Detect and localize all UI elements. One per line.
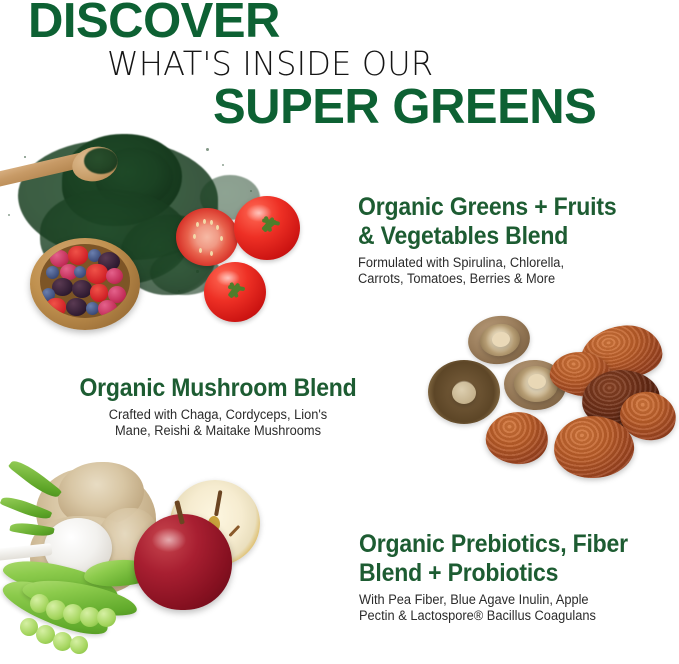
section-mushroom-sub-line1: Crafted with Chaga, Cordyceps, Lion's <box>109 407 327 422</box>
pea-pod-lower <box>0 570 114 643</box>
mushroom-ingredients-photo <box>424 312 674 490</box>
section-greens-sub-line2: Carrots, Tomatoes, Berries & More <box>358 271 555 286</box>
section-prebiotics-title-line1: Organic Prebiotics, Fiber <box>359 530 628 558</box>
section-mushroom-sub-line2: Mane, Reishi & Maitake Mushrooms <box>115 423 321 438</box>
section-organic-greens: Organic Greens + Fruits & Vegetables Ble… <box>358 193 668 287</box>
wooden-spoon-handle <box>0 150 93 188</box>
section-prebiotics-sub-line2: Pectin & Lactospore® Bacillus Coagulans <box>359 608 596 623</box>
shiitake-cap-mid <box>502 358 567 412</box>
apple-whole <box>134 514 232 610</box>
section-greens-sub-line1: Formulated with Spirulina, Chlorella, <box>358 255 564 270</box>
section-organic-prebiotics: Organic Prebiotics, Fiber Blend + Probio… <box>359 530 669 624</box>
headline-line-3: SUPER GREENS <box>213 82 596 132</box>
reishi-upper-right <box>578 322 665 382</box>
tomato-whole-lower <box>204 262 266 322</box>
reishi-dark-center <box>581 368 662 430</box>
wooden-spoon-bowl <box>69 142 121 185</box>
section-greens-title: Organic Greens + Fruits & Vegetables Ble… <box>358 193 643 251</box>
pea-pod-open <box>20 574 139 622</box>
section-prebiotics-title: Organic Prebiotics, Fiber Blend + Probio… <box>359 530 644 588</box>
tomato-cut-half <box>176 208 238 266</box>
headline-line-1: DISCOVER <box>28 0 280 46</box>
tomato-whole-upper <box>234 196 300 260</box>
section-greens-title-line2: & Vegetables Blend <box>358 222 568 250</box>
headline-line-2: WHAT'S INSIDE OUR <box>107 47 433 81</box>
powder-scoop <box>44 518 112 578</box>
reishi-lower-center <box>552 413 636 480</box>
section-prebiotics-title-line2: Blend + Probiotics <box>359 559 558 587</box>
section-mushroom-subtitle: Crafted with Chaga, Cordyceps, Lion's Ma… <box>57 407 380 439</box>
pea-pod-right <box>83 558 157 589</box>
section-prebiotics-sub-line1: With Pea Fiber, Blue Agave Inulin, Apple <box>359 592 589 607</box>
section-mushroom-title: Organic Mushroom Blend <box>62 374 375 403</box>
pea-pod-upper <box>0 552 122 610</box>
section-greens-title-line1: Organic Greens + Fruits <box>358 193 616 221</box>
greens-ingredients-photo <box>0 130 330 335</box>
poster-canvas: DISCOVER WHAT'S INSIDE OUR SUPER GREENS <box>0 0 679 664</box>
reishi-lower-right <box>615 386 679 446</box>
apple-half-cut <box>170 480 260 566</box>
portobello-gills <box>428 360 500 424</box>
prebiotic-ingredients-photo <box>0 462 290 664</box>
reishi-mid-left <box>547 348 615 400</box>
reishi-lower-left <box>483 409 550 467</box>
section-prebiotics-subtitle: With Pea Fiber, Blue Agave Inulin, Apple… <box>359 592 654 624</box>
section-greens-subtitle: Formulated with Spirulina, Chlorella, Ca… <box>358 255 653 287</box>
apple-stem <box>174 500 185 524</box>
section-organic-mushroom: Organic Mushroom Blend Crafted with Chag… <box>48 374 388 439</box>
berry-bowl <box>30 238 140 330</box>
shiitake-cap-top <box>465 312 533 368</box>
